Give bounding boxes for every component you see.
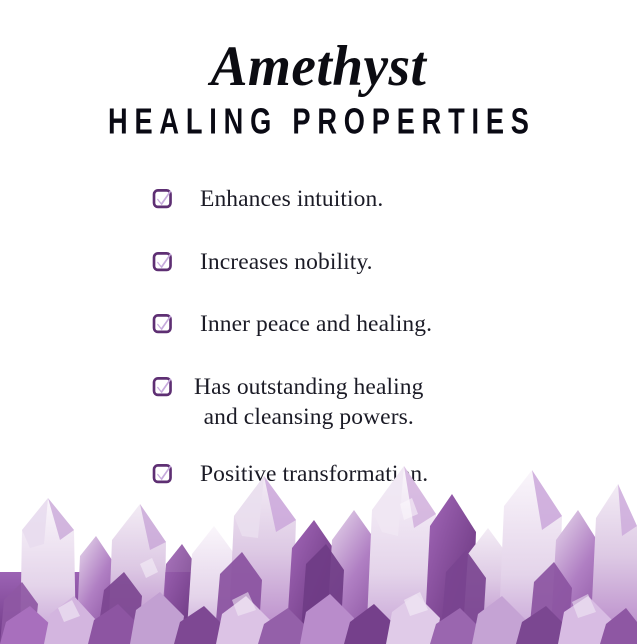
list-item: Enhances intuition. [152,184,617,215]
list-item-label: Increases nobility. [180,247,373,278]
list-item-label: Inner peace and healing. [180,309,432,340]
list-item-label: Has outstanding healing and cleansing po… [180,372,423,433]
list-item: Has outstanding healing and cleansing po… [152,372,617,433]
list-item-label: Enhances intuition. [180,184,383,215]
amethyst-crystal-cluster-photo [0,444,637,644]
poster-header: Amethyst HEALING PROPERTIES [0,0,637,138]
checkbox-checked-icon [152,184,180,210]
list-item-label-line1: Has outstanding healing [194,372,423,403]
page-subtitle: HEALING PROPERTIES [64,104,574,140]
page-title: Amethyst [10,38,628,96]
list-item: Increases nobility. [152,247,617,278]
checkbox-checked-icon [152,372,180,398]
checkbox-checked-icon [152,247,180,273]
checkbox-checked-icon [152,309,180,335]
list-item-label-line2: and cleansing powers. [194,402,423,433]
amethyst-healing-properties-poster: Amethyst HEALING PROPERTIES Enhances int… [0,0,637,644]
list-item: Inner peace and healing. [152,309,617,340]
